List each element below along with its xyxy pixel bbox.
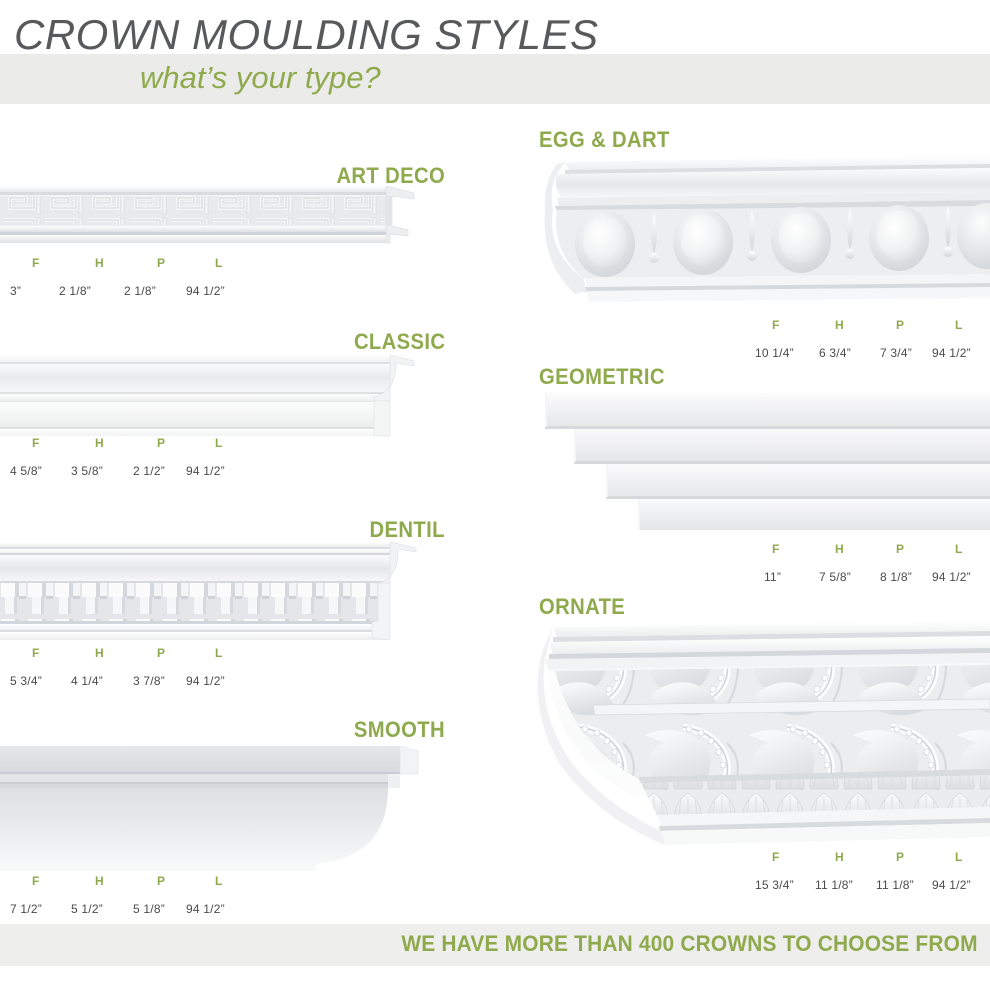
spec-label-p: P xyxy=(896,850,904,864)
spec-label-l: L xyxy=(955,542,963,556)
style-block-art-deco: ART DECO xyxy=(0,160,455,295)
spec-value-l: 94 1/2” xyxy=(186,674,225,688)
spec-value-f: 5 3/4” xyxy=(10,674,42,688)
moulding-image-smooth xyxy=(0,746,448,871)
style-block-geometric: GEOMETRIC xyxy=(535,365,990,580)
spec-value-p: 2 1/8” xyxy=(124,284,156,298)
spec-value-l: 94 1/2” xyxy=(932,878,971,892)
spec-value-p: 7 3/4” xyxy=(880,346,912,360)
spec-value-l: 94 1/2” xyxy=(186,284,225,298)
moulding-image-classic xyxy=(0,355,448,450)
footer-tagline: WE HAVE MORE THAN 400 CROWNS TO CHOOSE F… xyxy=(0,931,978,957)
style-block-egg-and-dart: EGG & DART xyxy=(535,128,990,358)
style-heading-dentil: DENTIL xyxy=(370,518,445,542)
spec-value-p: 5 1/8” xyxy=(133,902,165,916)
page-subtitle: what’s your type? xyxy=(140,61,381,95)
crown-moulding-styles-page: CROWN MOULDING STYLES what’s your type? … xyxy=(0,0,990,990)
spec-value-f: 10 1/4” xyxy=(755,346,794,360)
moulding-image-art-deco xyxy=(0,186,448,254)
spec-label-p: P xyxy=(157,256,165,270)
spec-value-p: 8 1/8” xyxy=(880,570,912,584)
spec-label-p: P xyxy=(157,436,165,450)
style-block-classic: CLASSIC xyxy=(0,330,455,480)
spec-label-p: P xyxy=(157,646,165,660)
spec-label-f: F xyxy=(32,646,40,660)
spec-value-l: 94 1/2” xyxy=(932,570,971,584)
spec-value-f: 7 1/2” xyxy=(10,902,42,916)
spec-label-f: F xyxy=(32,436,40,450)
moulding-image-dentil xyxy=(0,542,448,652)
spec-value-f: 15 3/4” xyxy=(755,878,794,892)
spec-value-p: 11 1/8” xyxy=(876,878,914,892)
spec-label-p: P xyxy=(896,542,904,556)
spec-label-h: H xyxy=(95,646,104,660)
spec-label-f: F xyxy=(772,542,780,556)
spec-label-f: F xyxy=(32,256,40,270)
spec-label-h: H xyxy=(95,874,104,888)
spec-value-f: 11” xyxy=(764,570,781,584)
spec-label-h: H xyxy=(835,850,844,864)
moulding-image-ornate xyxy=(535,621,990,856)
spec-label-h: H xyxy=(835,542,844,556)
spec-value-h: 11 1/8” xyxy=(815,878,853,892)
spec-label-p: P xyxy=(157,874,165,888)
style-heading-ornate: ORNATE xyxy=(539,595,625,619)
spec-label-p: P xyxy=(896,318,904,332)
spec-label-f: F xyxy=(772,318,780,332)
spec-value-h: 4 1/4” xyxy=(71,674,103,688)
spec-label-l: L xyxy=(215,874,223,888)
spec-label-l: L xyxy=(955,318,963,332)
style-block-ornate: ORNATE xyxy=(535,595,990,895)
page-title: CROWN MOULDING STYLES xyxy=(14,13,599,57)
spec-label-l: L xyxy=(955,850,963,864)
style-block-dentil: DENTIL xyxy=(0,518,455,688)
style-heading-egg-and-dart: EGG & DART xyxy=(539,128,670,152)
style-heading-classic: CLASSIC xyxy=(354,330,445,354)
spec-value-h: 6 3/4” xyxy=(819,346,851,360)
spec-value-f: 4 5/8” xyxy=(10,464,42,478)
spec-value-l: 94 1/2” xyxy=(932,346,971,360)
spec-label-l: L xyxy=(215,436,223,450)
spec-value-l: 94 1/2” xyxy=(186,902,225,916)
footer-tagline-text: WE HAVE MORE THAN 400 CROWNS TO CHOOSE F… xyxy=(402,931,978,957)
spec-label-h: H xyxy=(95,436,104,450)
spec-label-l: L xyxy=(215,256,223,270)
spec-value-l: 94 1/2” xyxy=(186,464,225,478)
spec-value-f: 3” xyxy=(10,284,21,298)
spec-value-p: 3 7/8” xyxy=(133,674,165,688)
style-heading-smooth: SMOOTH xyxy=(354,718,445,742)
spec-label-f: F xyxy=(772,850,780,864)
spec-value-p: 2 1/2” xyxy=(133,464,165,478)
spec-value-h: 7 5/8” xyxy=(819,570,851,584)
spec-label-h: H xyxy=(835,318,844,332)
spec-value-h: 3 5/8” xyxy=(71,464,103,478)
moulding-image-egg-and-dart xyxy=(535,154,990,314)
style-block-smooth: SMOOTH xyxy=(0,718,455,918)
moulding-image-geometric xyxy=(535,391,990,536)
spec-value-h: 5 1/2” xyxy=(71,902,103,916)
spec-label-f: F xyxy=(32,874,40,888)
style-heading-geometric: GEOMETRIC xyxy=(539,365,665,389)
style-heading-art-deco: ART DECO xyxy=(336,164,445,188)
spec-label-l: L xyxy=(215,646,223,660)
spec-label-h: H xyxy=(95,256,104,270)
spec-value-h: 2 1/8” xyxy=(59,284,91,298)
